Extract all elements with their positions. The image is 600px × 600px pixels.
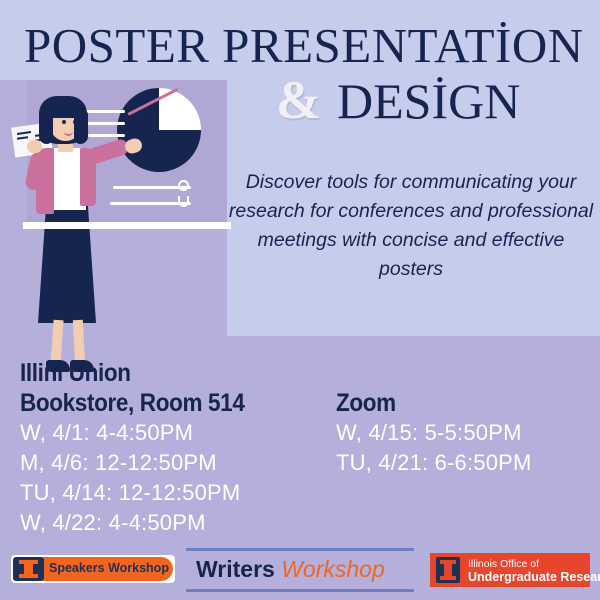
iour-line-1: Illinois Office of [468,558,539,570]
writers-workshop-label: Writers Workshop [196,556,385,583]
board-text-line [83,122,125,125]
board-ledge [23,222,231,229]
board-bullet-icon [178,196,189,207]
board-text-line [88,134,125,137]
poster-canvas: POSTER PRESENTATİON &DESİGN Discover too… [0,0,600,600]
writers-rule-bottom [186,589,414,592]
session-time: W, 4/15: 5-5:50PM [336,418,596,448]
venue-name-line: Zoom [336,388,570,418]
logo-writers-workshop[interactable]: Writers Workshop [186,548,414,592]
board-bullet-icon [178,180,189,191]
schedule-column-illini-union: Illini Union Bookstore, Room 514 W, 4/1:… [20,358,330,538]
page-title-line-1: POSTER PRESENTATİON [24,21,584,70]
session-time: M, 4/6: 12-12:50PM [20,448,330,478]
presenter-eye [73,120,77,124]
presenter-hair-side [39,110,53,144]
illinois-block-i-icon [13,557,44,581]
venue-name-line: Illini Union [20,358,299,388]
pie-chart-graphic [117,88,201,172]
writers-rule-top [186,548,414,551]
workshop-word: Workshop [281,556,385,582]
presenter-hand-left [27,140,42,153]
page-title-design-word: DESİGN [337,73,520,129]
session-time: TU, 4/14: 12-12:50PM [20,478,330,508]
description-text: Discover tools for communicating your re… [228,168,594,284]
page-title-line-2: &DESİGN [276,74,596,127]
logo-undergraduate-research[interactable]: Illinois Office of Undergraduate Researc… [430,553,590,587]
writers-word: Writers [196,556,275,582]
presenter-eyebrow [71,115,79,117]
ampersand-glyph: & [276,70,321,130]
session-time: W, 4/22: 4-4:50PM [20,508,330,538]
logo-speakers-workshop[interactable]: Speakers Workshop [11,555,175,583]
presenter-eye [62,120,66,124]
session-time: TU, 4/21: 6-6:50PM [336,448,596,478]
iour-line-2: Undergraduate Research [468,570,600,584]
speakers-workshop-label: Speakers Workshop [49,561,169,575]
presenter-eyebrow [60,115,68,117]
illinois-block-i-icon [436,557,460,583]
schedule-column-zoom: Zoom W, 4/15: 5-5:50PM TU, 4/21: 6-6:50P… [336,388,596,478]
session-time: W, 4/1: 4-4:50PM [20,418,330,448]
venue-name-line: Bookstore, Room 514 [20,388,299,418]
